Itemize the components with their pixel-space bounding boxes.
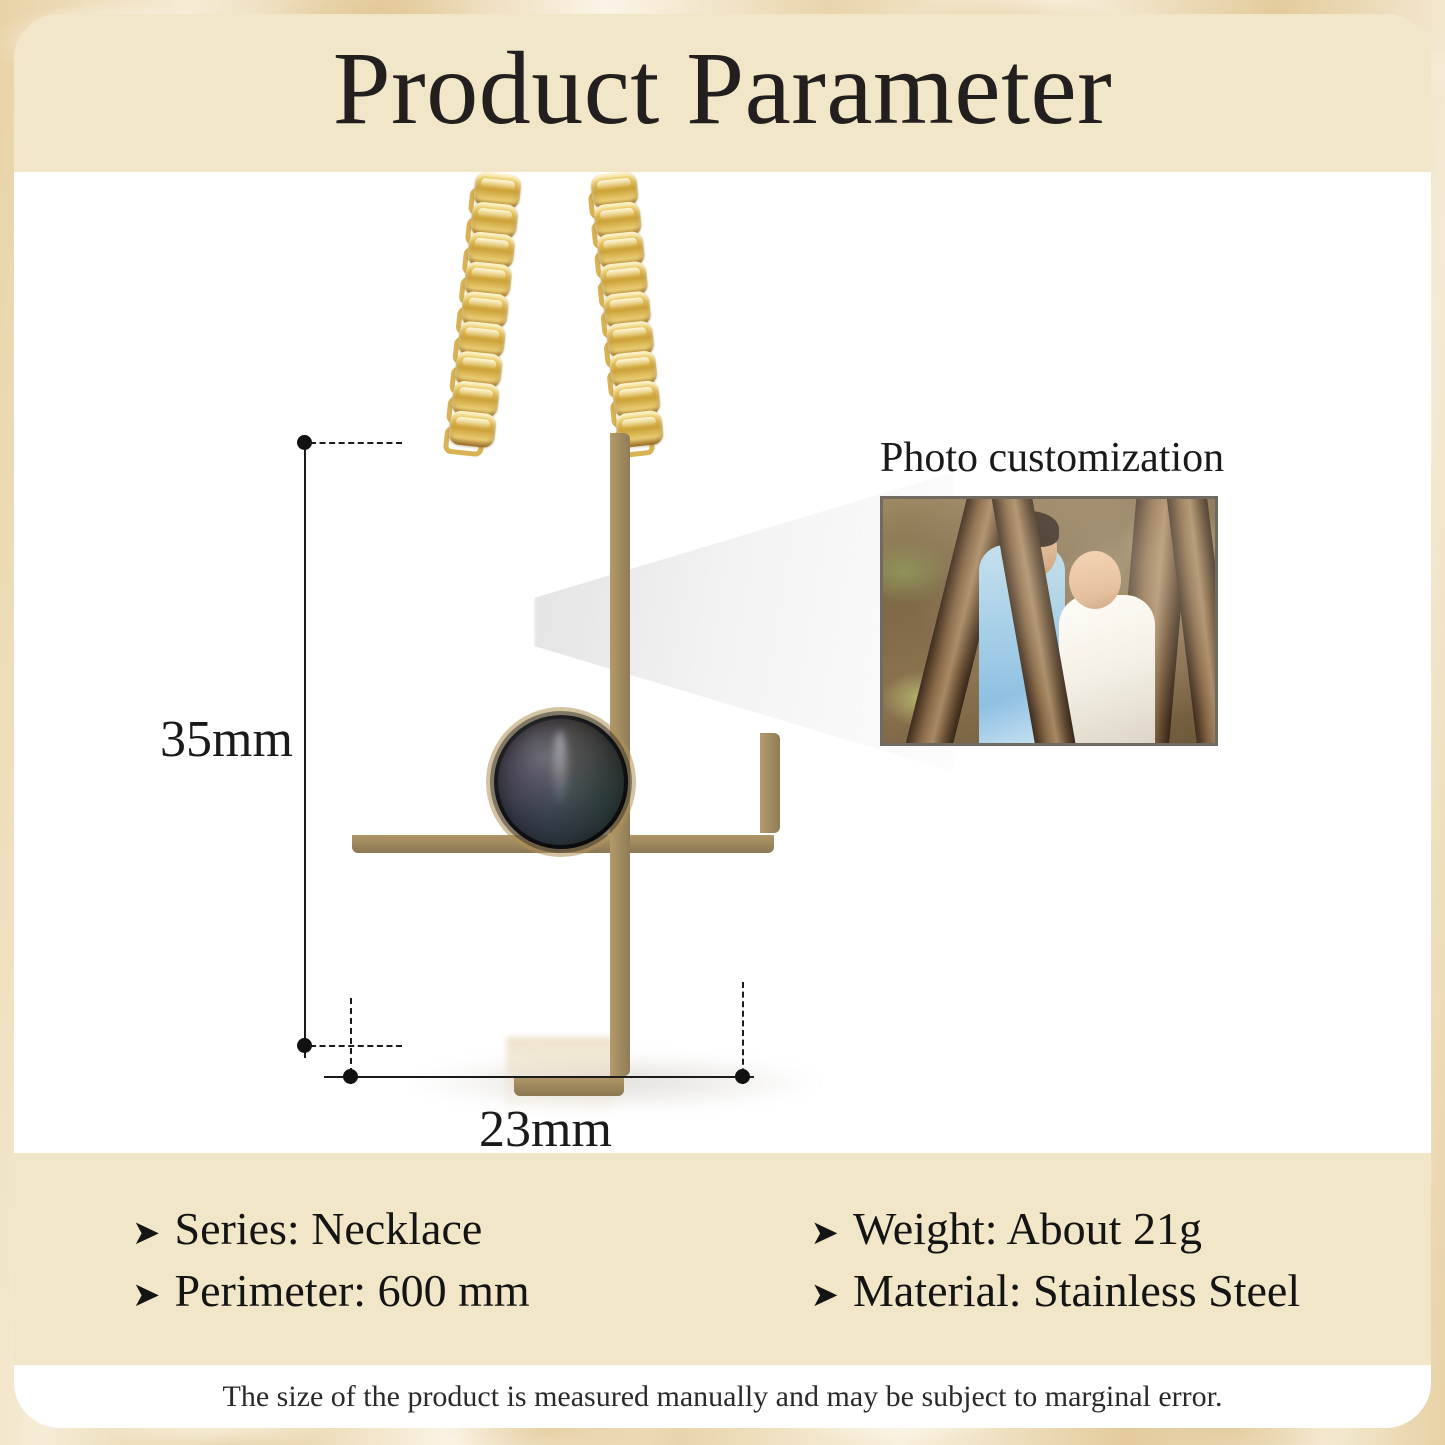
height-dimension-label: 35mm: [160, 710, 293, 769]
width-dimension-label: 23mm: [479, 1100, 612, 1159]
product-parameter-card: Product Parameter: [14, 14, 1431, 1428]
spec-row-weight: ➤ Weight: About 21g: [811, 1202, 1432, 1255]
width-dim-dot-right: [735, 1069, 750, 1084]
height-dimension-line: [304, 438, 306, 1058]
necklace-chain-right: [584, 171, 668, 445]
bullet-arrow-icon: ➤: [811, 1275, 840, 1315]
page-title: Product Parameter: [333, 37, 1113, 149]
product-stage: 35mm 23mm Photo customization: [14, 172, 1431, 1153]
height-extension-top: [310, 442, 402, 444]
height-extension-bottom: [310, 1045, 402, 1047]
bevel-bottom: [514, 1078, 624, 1096]
page-background: Product Parameter: [0, 0, 1445, 1445]
footer-note-area: The size of the product is measured manu…: [14, 1365, 1431, 1428]
spec-row-series: ➤ Series: Necklace: [132, 1202, 753, 1255]
width-dim-dot-left: [343, 1069, 358, 1084]
spec-column-right: ➤ Weight: About 21g ➤ Material: Stainles…: [753, 1193, 1432, 1326]
photo-customization-callout: Photo customization: [880, 434, 1220, 746]
title-banner: Product Parameter: [14, 14, 1431, 172]
custom-photo-thumbnail[interactable]: [880, 496, 1218, 746]
spec-row-perimeter: ➤ Perimeter: 600 mm: [132, 1264, 753, 1317]
width-dimension-line: [324, 1076, 754, 1078]
spec-text-material: Material: Stainless Steel: [853, 1264, 1300, 1317]
bullet-arrow-icon: ➤: [132, 1213, 161, 1253]
spec-column-left: ➤ Series: Necklace ➤ Perimeter: 600 mm: [14, 1193, 753, 1326]
spec-row-material: ➤ Material: Stainless Steel: [811, 1264, 1432, 1317]
bullet-arrow-icon: ➤: [132, 1275, 161, 1315]
spec-text-perimeter: Perimeter: 600 mm: [175, 1264, 530, 1317]
necklace-chain-left: [442, 171, 526, 445]
measurement-disclaimer: The size of the product is measured manu…: [223, 1380, 1223, 1414]
projection-lens: [494, 715, 628, 849]
spec-text-weight: Weight: About 21g: [853, 1202, 1202, 1255]
photo-customization-label: Photo customization: [880, 434, 1220, 482]
specifications-band: ➤ Series: Necklace ➤ Perimeter: 600 mm ➤…: [14, 1153, 1431, 1365]
bullet-arrow-icon: ➤: [811, 1213, 840, 1253]
cross-pendant: [344, 427, 764, 1087]
spec-text-series: Series: Necklace: [175, 1202, 483, 1255]
photo-light-overlay: [883, 499, 1215, 743]
bevel-right: [760, 733, 780, 833]
